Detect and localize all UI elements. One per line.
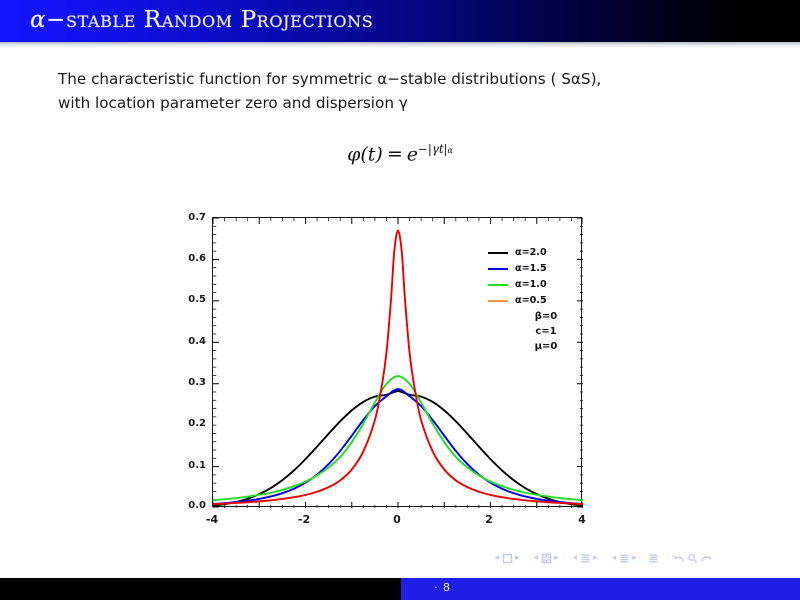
legend-color-swatch bbox=[488, 252, 508, 254]
legend-item: α=0.5 bbox=[488, 293, 598, 308]
density-curve-2 bbox=[213, 391, 583, 506]
subsection-icon[interactable] bbox=[580, 553, 591, 564]
legend-item-label: α=2.0 bbox=[515, 247, 547, 258]
legend-color-swatch bbox=[488, 284, 508, 286]
y-tick-label: 0.0 bbox=[170, 500, 206, 511]
stable-density-figure: 0.7 0.6 0.5 0.4 0.3 0.2 0.1 0.0 -4 -2 0 … bbox=[170, 205, 620, 535]
chart-legend: α=2.0 α=1.5 α=1.0 α=0.5 β=0 c=1 μ=0 bbox=[488, 245, 598, 354]
subsection-prev-icon[interactable]: ◂ bbox=[570, 554, 580, 563]
doc-nav-group[interactable] bbox=[648, 553, 659, 564]
legend-color-swatch bbox=[488, 300, 508, 302]
legend-param-mu: μ=0 bbox=[488, 339, 598, 354]
density-curve-1 bbox=[213, 376, 583, 500]
subsection-nav-group[interactable]: ◂ ▸ bbox=[570, 553, 600, 564]
legend-item: α=2.0 bbox=[488, 245, 598, 260]
y-tick-label: 0.3 bbox=[170, 377, 206, 388]
footer-page-dash: · bbox=[434, 581, 438, 594]
section-next-icon[interactable]: ▸ bbox=[630, 554, 640, 563]
back-icon[interactable] bbox=[673, 553, 686, 564]
section-nav-group[interactable]: ◂ ▸ bbox=[609, 553, 639, 564]
y-tick-label: 0.6 bbox=[170, 253, 206, 264]
equation-exponent: −|γt| bbox=[418, 142, 448, 156]
slide-next-icon[interactable]: ▸ bbox=[513, 554, 523, 563]
legend-param-c: c=1 bbox=[488, 324, 598, 339]
frame-prev-icon[interactable]: ◂ bbox=[531, 554, 541, 563]
x-tick-label: -2 bbox=[289, 513, 319, 526]
legend-item-label: α=1.0 bbox=[515, 279, 547, 290]
x-tick-label: 4 bbox=[567, 513, 597, 526]
characteristic-function-equation: φ(t)=e−|γt|α bbox=[0, 142, 800, 165]
search-icon[interactable] bbox=[687, 553, 698, 564]
x-tick-label: 0 bbox=[382, 513, 412, 526]
y-tick-label: 0.4 bbox=[170, 336, 206, 347]
legend-item: α=1.0 bbox=[488, 277, 598, 292]
legend-color-swatch bbox=[488, 268, 508, 270]
body-paragraph: The characteristic function for symmetri… bbox=[58, 67, 748, 115]
history-nav-group[interactable] bbox=[673, 553, 712, 564]
title-bar-shadow bbox=[0, 42, 800, 49]
legend-param-beta: β=0 bbox=[488, 309, 598, 324]
frame-next-icon[interactable]: ▸ bbox=[552, 554, 562, 563]
title-main-text: −stable Random Projections bbox=[46, 7, 373, 33]
x-tick-label: 2 bbox=[474, 513, 504, 526]
equation-base: e bbox=[407, 143, 418, 165]
x-tick-label: -4 bbox=[197, 513, 227, 526]
equation-exponent-power: α bbox=[448, 146, 453, 155]
legend-item-label: α=1.5 bbox=[515, 263, 547, 274]
frame-nav-group[interactable]: ◂ ▸ bbox=[531, 553, 561, 564]
section-prev-icon[interactable]: ◂ bbox=[609, 554, 619, 563]
slide-icon[interactable] bbox=[502, 553, 513, 564]
beamer-navigation-bar[interactable]: ◂ ▸ ◂ ▸ ◂ ▸ ◂ ▸ bbox=[492, 553, 712, 564]
y-tick-label: 0.2 bbox=[170, 418, 206, 429]
y-tick-label: 0.7 bbox=[170, 212, 206, 223]
frame-icon[interactable] bbox=[541, 553, 552, 564]
footer-page-number: 8 bbox=[443, 581, 451, 594]
doc-icon[interactable] bbox=[648, 553, 659, 564]
slide-nav-group[interactable]: ◂ ▸ bbox=[492, 553, 522, 564]
page-title: α−stable Random Projections bbox=[30, 7, 373, 33]
subsection-next-icon[interactable]: ▸ bbox=[591, 554, 601, 563]
density-curve-1.5 bbox=[213, 389, 583, 504]
section-icon[interactable] bbox=[619, 553, 630, 564]
equation-lhs: φ(t) bbox=[347, 143, 383, 165]
footer-right-bar bbox=[401, 578, 800, 600]
legend-item-label: α=0.5 bbox=[515, 295, 547, 306]
slide-prev-icon[interactable]: ◂ bbox=[492, 554, 502, 563]
body-line-2: with location parameter zero and dispers… bbox=[58, 91, 748, 115]
legend-item: α=1.5 bbox=[488, 261, 598, 276]
forward-icon[interactable] bbox=[699, 553, 712, 564]
y-tick-label: 0.1 bbox=[170, 460, 206, 471]
body-line-1: The characteristic function for symmetri… bbox=[58, 67, 748, 91]
footer-left-bar bbox=[0, 578, 401, 600]
title-alpha-symbol: α bbox=[30, 7, 46, 33]
equation-equals: = bbox=[383, 143, 407, 165]
y-tick-label: 0.5 bbox=[170, 294, 206, 305]
